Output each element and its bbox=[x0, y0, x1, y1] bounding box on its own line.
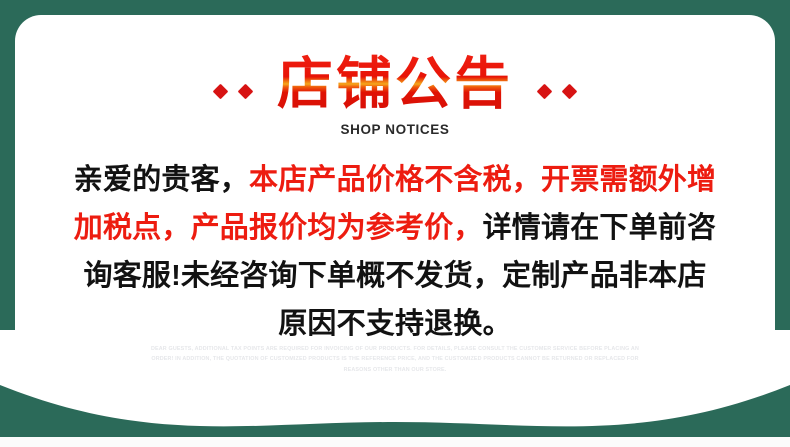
diamond-icon bbox=[238, 83, 254, 99]
notice-paragraph: 亲爱的贵客，本店产品价格不含税，开票需额外增 加税点，产品报价均为参考价，详情请… bbox=[55, 156, 735, 348]
title-row: 店铺公告 bbox=[0, 54, 790, 114]
diamond-icon bbox=[537, 83, 553, 99]
shop-notice-banner: 店铺公告 SHOP NOTICES 亲爱的贵客，本店产品价格不含税，开票需额外增… bbox=[0, 0, 790, 447]
diamond-decoration-left bbox=[189, 86, 277, 97]
banner-header: 店铺公告 SHOP NOTICES bbox=[0, 54, 790, 146]
notice-line-1-red: 本店产品价格不含税，开票需额外增 bbox=[249, 164, 716, 196]
notice-line-4: 原因不支持退换。 bbox=[55, 300, 735, 348]
diamond-icon bbox=[562, 83, 578, 99]
fineprint-line-2: ORDER! IN ADDITION, THE QUOTATION OF CUS… bbox=[95, 354, 695, 364]
diamond-decoration-right bbox=[513, 86, 601, 97]
fineprint-line-3: REASONS OTHER THAN OUR STORE. bbox=[95, 365, 695, 375]
english-fineprint: DEAR GUESTS, ADDITIONAL TAX POINTS ARE R… bbox=[95, 344, 695, 375]
page-subtitle: SHOP NOTICES bbox=[0, 122, 790, 137]
diamond-icon bbox=[213, 83, 229, 99]
notice-line-1-black: 亲爱的贵客， bbox=[74, 164, 249, 196]
fineprint-line-1: DEAR GUESTS, ADDITIONAL TAX POINTS ARE R… bbox=[95, 344, 695, 354]
page-title: 店铺公告 bbox=[277, 54, 513, 114]
notice-line-2: 加税点，产品报价均为参考价，详情请在下单前咨 bbox=[55, 204, 735, 252]
notice-line-2-red: 加税点，产品报价均为参考价， bbox=[74, 212, 483, 244]
notice-line-1: 亲爱的贵客，本店产品价格不含税，开票需额外增 bbox=[55, 156, 735, 204]
notice-line-2-black: 详情请在下单前咨 bbox=[483, 212, 717, 244]
notice-line-3: 询客服!未经咨询下单概不发货，定制产品非本店 bbox=[55, 252, 735, 300]
